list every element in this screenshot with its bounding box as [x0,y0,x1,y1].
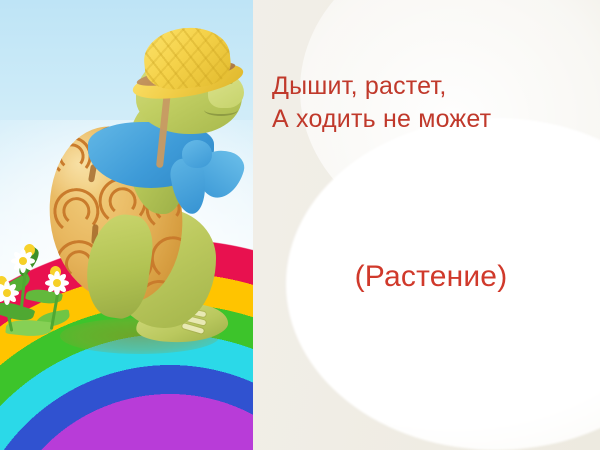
straw-hat-icon [141,24,233,93]
turtle-character [32,18,252,368]
answer-text: (Растение) [272,260,590,294]
slide-canvas: Дышит, растет, А ходить не может (Растен… [0,0,600,450]
turtle-illustration [0,0,253,450]
turtle-scarf-knot [182,140,212,168]
daisy-flower-icon [0,280,20,306]
turtle-mouth [204,104,238,116]
riddle-text: Дышит, растет, А ходить не может [272,70,590,136]
